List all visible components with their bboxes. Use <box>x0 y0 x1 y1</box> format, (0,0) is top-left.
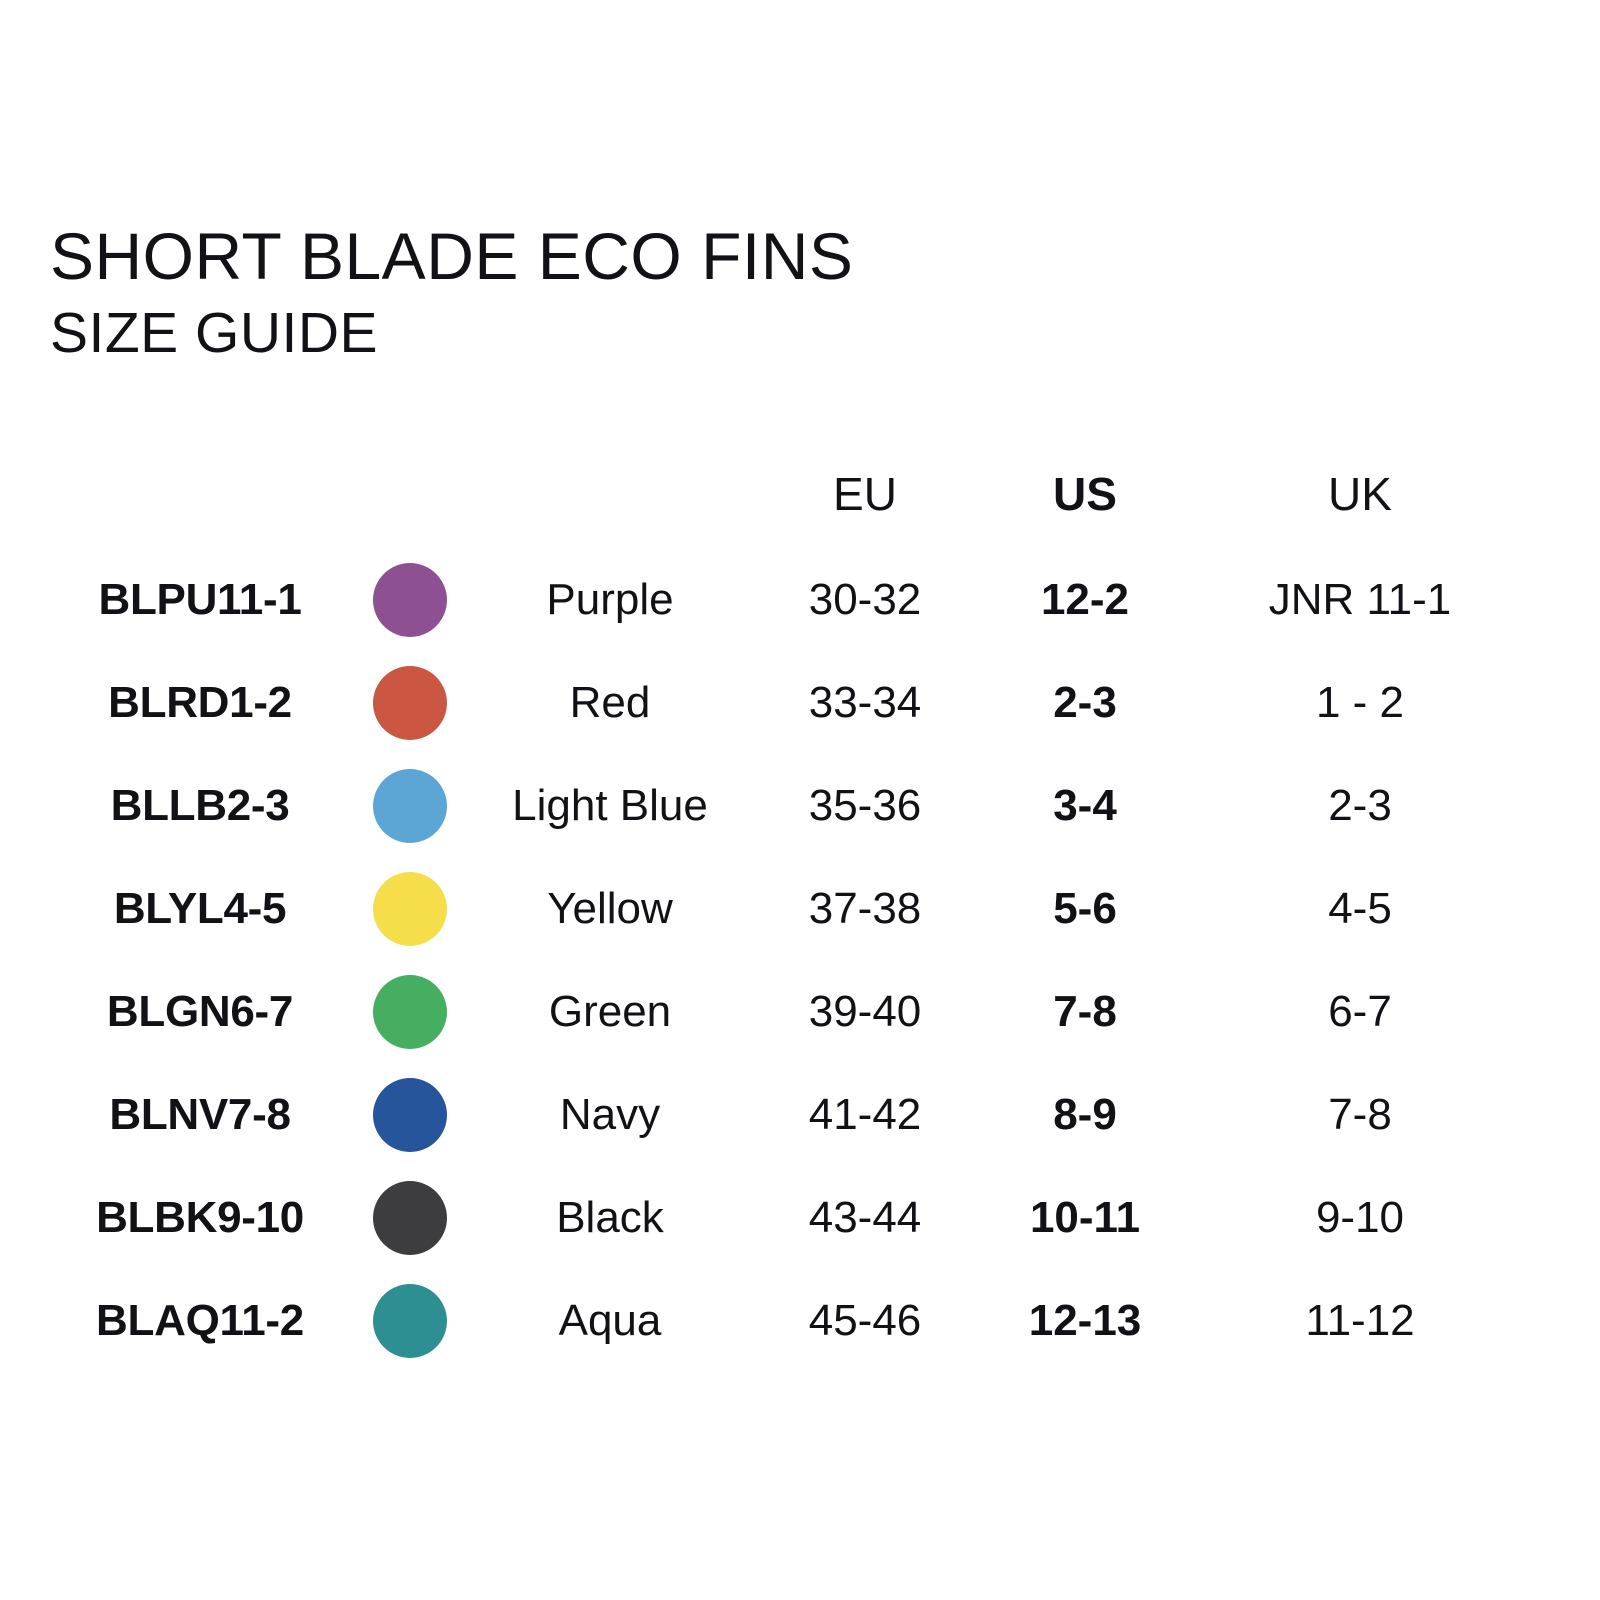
color-swatch-light-blue <box>373 769 447 843</box>
color-swatch-cell <box>350 651 470 754</box>
us-size: 10-11 <box>980 1166 1190 1269</box>
uk-size: 4-5 <box>1190 857 1530 960</box>
page-title: SHORT BLADE ECO FINS <box>50 218 853 294</box>
color-swatch-green <box>373 975 447 1049</box>
eu-size: 37-38 <box>750 857 980 960</box>
eu-size: 41-42 <box>750 1063 980 1166</box>
us-size: 8-9 <box>980 1063 1190 1166</box>
color-swatch-black <box>373 1181 447 1255</box>
header-uk: UK <box>1190 440 1530 548</box>
color-name: Yellow <box>470 857 750 960</box>
eu-size: 35-36 <box>750 754 980 857</box>
color-swatch-cell <box>350 754 470 857</box>
eu-size: 45-46 <box>750 1269 980 1372</box>
header-swatch <box>350 440 470 548</box>
color-swatch-navy <box>373 1078 447 1152</box>
us-size: 3-4 <box>980 754 1190 857</box>
header-eu: EU <box>750 440 980 548</box>
eu-size: 30-32 <box>750 548 980 651</box>
table-row: BLLB2-3Light Blue35-363-42-3 <box>50 754 1530 857</box>
us-size: 7-8 <box>980 960 1190 1063</box>
header-row: EU US UK <box>50 440 1530 548</box>
table-row: BLAQ11-2Aqua45-4612-1311-12 <box>50 1269 1530 1372</box>
eu-size: 43-44 <box>750 1166 980 1269</box>
header-us: US <box>980 440 1190 548</box>
header-color-name <box>470 440 750 548</box>
sku-code: BLBK9-10 <box>50 1166 350 1269</box>
sku-code: BLLB2-3 <box>50 754 350 857</box>
color-name: Purple <box>470 548 750 651</box>
size-guide-table: EU US UK BLPU11-1Purple30-3212-2JNR 11-1… <box>50 440 1530 1372</box>
sku-code: BLRD1-2 <box>50 651 350 754</box>
size-guide-page: SHORT BLADE ECO FINS SIZE GUIDE EU US UK… <box>0 0 1600 1600</box>
color-swatch-cell <box>350 548 470 651</box>
color-swatch-cell <box>350 960 470 1063</box>
color-swatch-yellow <box>373 872 447 946</box>
table-row: BLBK9-10Black43-4410-119-10 <box>50 1166 1530 1269</box>
color-swatch-cell <box>350 1063 470 1166</box>
color-name: Aqua <box>470 1269 750 1372</box>
eu-size: 39-40 <box>750 960 980 1063</box>
eu-size: 33-34 <box>750 651 980 754</box>
header-sku <box>50 440 350 548</box>
color-name: Green <box>470 960 750 1063</box>
color-name: Navy <box>470 1063 750 1166</box>
uk-size: 11-12 <box>1190 1269 1530 1372</box>
table-header: EU US UK <box>50 440 1530 548</box>
table-row: BLRD1-2Red33-342-31 - 2 <box>50 651 1530 754</box>
title-block: SHORT BLADE ECO FINS SIZE GUIDE <box>50 218 853 366</box>
uk-size: 2-3 <box>1190 754 1530 857</box>
color-swatch-purple <box>373 563 447 637</box>
table-row: BLPU11-1Purple30-3212-2JNR 11-1 <box>50 548 1530 651</box>
us-size: 12-13 <box>980 1269 1190 1372</box>
uk-size: 1 - 2 <box>1190 651 1530 754</box>
color-swatch-red <box>373 666 447 740</box>
color-swatch-cell <box>350 1269 470 1372</box>
table-body: BLPU11-1Purple30-3212-2JNR 11-1BLRD1-2Re… <box>50 548 1530 1372</box>
uk-size: 9-10 <box>1190 1166 1530 1269</box>
uk-size: 6-7 <box>1190 960 1530 1063</box>
color-name: Black <box>470 1166 750 1269</box>
color-swatch-cell <box>350 1166 470 1269</box>
color-name: Red <box>470 651 750 754</box>
table-row: BLGN6-7Green39-407-86-7 <box>50 960 1530 1063</box>
uk-size: 7-8 <box>1190 1063 1530 1166</box>
sku-code: BLNV7-8 <box>50 1063 350 1166</box>
sku-code: BLAQ11-2 <box>50 1269 350 1372</box>
table-row: BLYL4-5Yellow37-385-64-5 <box>50 857 1530 960</box>
us-size: 5-6 <box>980 857 1190 960</box>
table-row: BLNV7-8Navy41-428-97-8 <box>50 1063 1530 1166</box>
color-swatch-cell <box>350 857 470 960</box>
sku-code: BLPU11-1 <box>50 548 350 651</box>
page-subtitle: SIZE GUIDE <box>50 300 853 366</box>
uk-size: JNR 11-1 <box>1190 548 1530 651</box>
sku-code: BLYL4-5 <box>50 857 350 960</box>
color-swatch-aqua <box>373 1284 447 1358</box>
color-name: Light Blue <box>470 754 750 857</box>
us-size: 12-2 <box>980 548 1190 651</box>
sku-code: BLGN6-7 <box>50 960 350 1063</box>
us-size: 2-3 <box>980 651 1190 754</box>
